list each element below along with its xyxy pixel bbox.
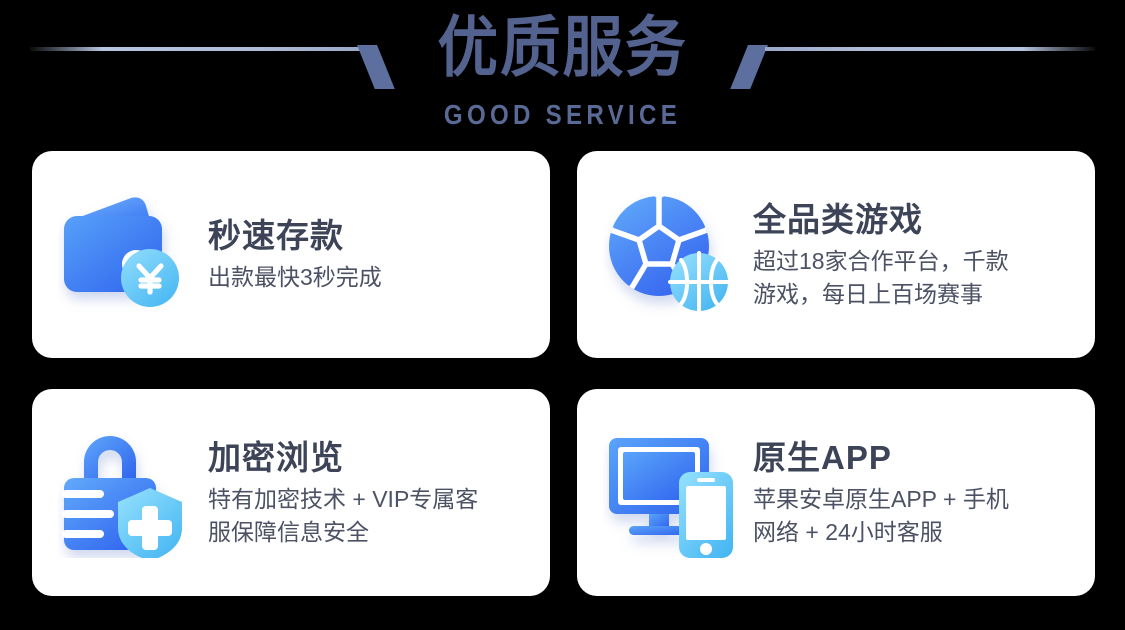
feature-card-text: 原生APP 苹果安卓原生APP + 手机 网络 + 24小时客服 — [753, 437, 1077, 549]
feature-card-native-app[interactable]: 原生APP 苹果安卓原生APP + 手机 网络 + 24小时客服 — [577, 389, 1095, 596]
card-title: 原生APP — [753, 437, 1077, 479]
card-subtitle: 出款最快3秒完成 — [208, 261, 532, 294]
card-title: 秒速存款 — [208, 215, 532, 257]
page-subtitle: GOOD SERVICE — [79, 98, 1047, 132]
feature-card-text: 全品类游戏 超过18家合作平台，千款 游戏，每日上百场赛事 — [753, 199, 1077, 311]
monitor-phone-icon — [603, 428, 743, 558]
feature-card-grid: 秒速存款 出款最快3秒完成 — [32, 151, 1095, 596]
card-subtitle: 苹果安卓原生APP + 手机 网络 + 24小时客服 — [753, 483, 1077, 549]
card-subtitle: 超过18家合作平台，千款 游戏，每日上百场赛事 — [753, 245, 1077, 311]
lock-shield-icon — [58, 428, 198, 558]
page-header: 优质服务 GOOD SERVICE — [0, 0, 1125, 150]
feature-card-text: 加密浏览 特有加密技术 + VIP专属客 服保障信息安全 — [208, 437, 532, 549]
wallet-yen-icon — [58, 190, 198, 320]
card-title: 全品类游戏 — [753, 199, 1077, 241]
card-subtitle: 特有加密技术 + VIP专属客 服保障信息安全 — [208, 483, 532, 549]
page-title: 优质服务 — [45, 8, 1080, 88]
feature-card-encryption[interactable]: 加密浏览 特有加密技术 + VIP专属客 服保障信息安全 — [32, 389, 550, 596]
feature-card-deposit[interactable]: 秒速存款 出款最快3秒完成 — [32, 151, 550, 358]
card-title: 加密浏览 — [208, 437, 532, 479]
soccer-basketball-icon — [603, 190, 743, 320]
feature-card-games[interactable]: 全品类游戏 超过18家合作平台，千款 游戏，每日上百场赛事 — [577, 151, 1095, 358]
feature-card-text: 秒速存款 出款最快3秒完成 — [208, 215, 532, 294]
